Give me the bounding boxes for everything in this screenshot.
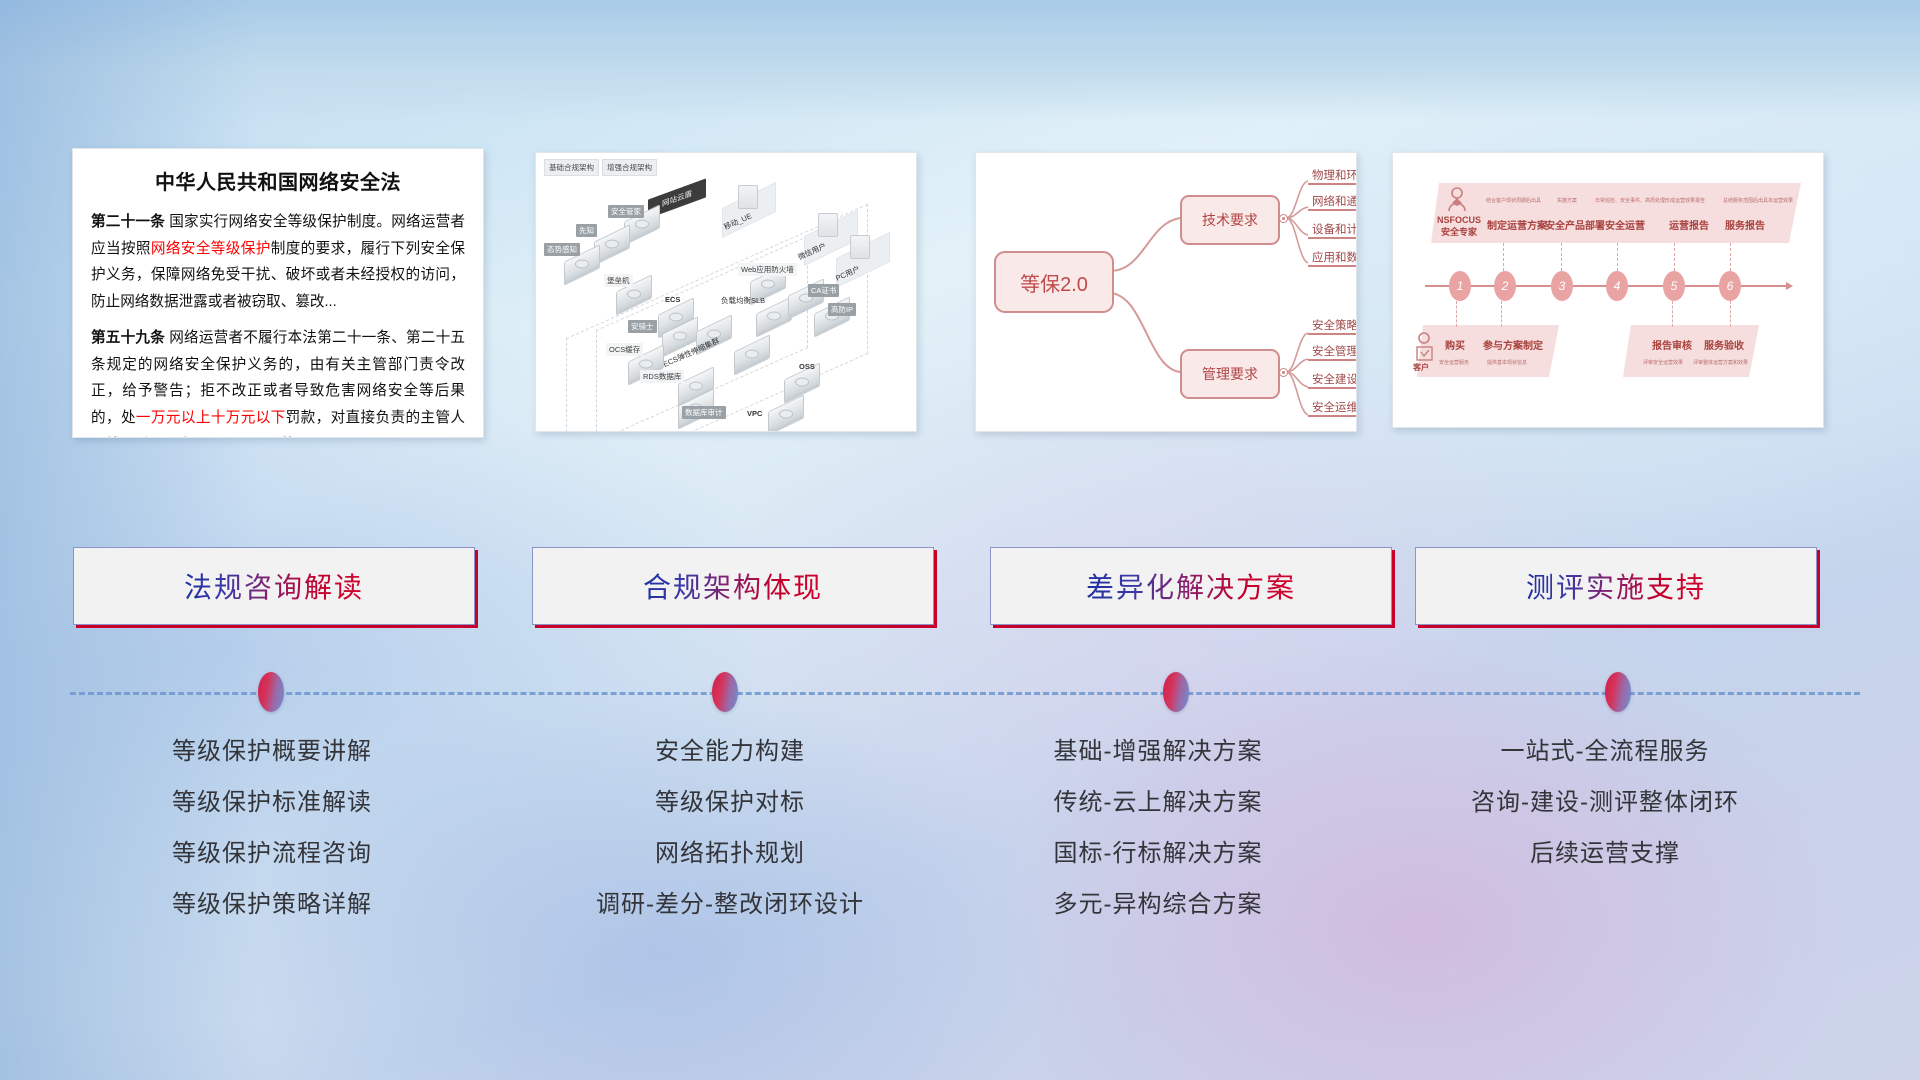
timeline-connector	[1456, 301, 1458, 327]
headline-box-solution[interactable]: 差异化解决方案	[990, 547, 1392, 625]
mindmap-branch-management: 管理要求	[1180, 349, 1280, 399]
timeline-node: 4	[1606, 271, 1628, 301]
mindmap-leaf-underline	[1308, 333, 1357, 335]
architecture-diagram: 移动_UE 微信用户 PC用户 网站云盾 安全管家 先知 态势感知 堡垒机 EC…	[536, 153, 916, 431]
list-item: 等级保护概要讲解	[62, 740, 482, 764]
architecture-tabs: 基础合规架构 增强合规架构	[544, 159, 657, 176]
label-security-butler: 安全管家	[608, 205, 644, 218]
law-article-21-highlight: 网络安全等级保护	[151, 241, 271, 257]
mindmap-leaf: 安全策略和管理制度	[1312, 317, 1357, 333]
mobile-device-icon	[738, 185, 758, 209]
vendor-role-label: NSFOCUS 安全专家	[1437, 215, 1481, 238]
bottom-step-subtitle: 安全运营服务	[1439, 359, 1469, 366]
list-item: 调研-差分-整改闭环设计	[520, 893, 940, 917]
headline-box-regulation[interactable]: 法规咨询解读	[73, 547, 475, 625]
mindmap-leaf-underline	[1308, 265, 1357, 267]
list-item: 等级保护流程咨询	[62, 842, 482, 866]
list-column-architecture: 安全能力构建 等级保护对标 网络拓扑规划 调研-差分-整改闭环设计	[520, 740, 940, 944]
label-oss: OSS	[796, 361, 818, 372]
timeline-marker-dot	[1163, 672, 1189, 712]
mindmap-leaf: 安全建设管理	[1312, 371, 1357, 387]
bottom-step-title: 购买	[1445, 337, 1465, 352]
mindmap-leaf: 设备和计算安全	[1312, 221, 1357, 237]
service-timeline-card: NSFOCUS 安全专家 客户 结合客户现状周期后出具 制定运营方案 实施方案 …	[1392, 152, 1824, 428]
list-item: 等级保护策略详解	[62, 893, 482, 917]
list-item: 多元-异构综合方案	[948, 893, 1368, 917]
law-article-59-highlight-2: 五千元以上五万元以下	[120, 437, 266, 438]
timeline-connector	[1561, 243, 1563, 271]
list-column-solution: 基础-增强解决方案 传统-云上解决方案 国标-行标解决方案 多元-异构综合方案	[948, 740, 1368, 944]
list-item: 等级保护标准解读	[62, 791, 482, 815]
top-step-title: 服务报告	[1725, 217, 1765, 232]
top-step-title: 安全运营	[1605, 217, 1645, 232]
label-slb: 负载均衡SLB	[718, 294, 768, 307]
mindmap-leaf: 应用和数据安全	[1312, 249, 1357, 265]
dengbao-mindmap-card: 等保2.0 技术要求 管理要求 物理和环境安全 网络和通信安全 设备和计算安全 …	[975, 152, 1357, 432]
list-column-assessment: 一站式-全流程服务 咨询-建设-测评整体闭环 后续运营支撑	[1395, 740, 1815, 893]
mindmap-leaf-underline	[1308, 237, 1357, 239]
mindmap-leaf-underline	[1308, 209, 1357, 211]
mindmap-leaf: 安全运维管理	[1312, 399, 1357, 415]
timeline-connector	[1730, 243, 1732, 271]
top-step-subtitle: 实施方案	[1557, 197, 1577, 204]
mindmap-branch-technical: 技术要求	[1180, 195, 1280, 245]
list-item: 国标-行标解决方案	[948, 842, 1368, 866]
headline-box-assessment[interactable]: 测评实施支持	[1415, 547, 1817, 625]
list-item: 咨询-建设-测评整体闭环	[1395, 791, 1815, 815]
timeline-marker-dot	[1605, 672, 1631, 712]
timeline-marker-dot	[712, 672, 738, 712]
mindmap-leaf-underline	[1308, 387, 1357, 389]
headline-label: 差异化解决方案	[1086, 566, 1296, 606]
law-article-59-text-c: 罚款。	[266, 437, 310, 438]
list-item: 后续运营支撑	[1395, 842, 1815, 866]
tab-enhanced-architecture[interactable]: 增强合规架构	[602, 159, 657, 176]
top-step-title: 制定运营方案	[1487, 217, 1547, 232]
service-timeline-diagram: NSFOCUS 安全专家 客户 结合客户现状周期后出具 制定运营方案 实施方案 …	[1393, 153, 1823, 427]
mindmap-leaf-underline	[1308, 183, 1357, 185]
headline-label: 测评实施支持	[1526, 566, 1706, 606]
background-top-glow	[0, 0, 1920, 120]
timeline-arrow-icon	[1786, 282, 1793, 290]
wechat-device-icon	[818, 213, 838, 237]
list-item: 基础-增强解决方案	[948, 740, 1368, 764]
law-article-59-label: 第五十九条	[91, 330, 165, 346]
headline-box-architecture[interactable]: 合规架构体现	[532, 547, 934, 625]
list-column-regulation: 等级保护概要讲解 等级保护标准解读 等级保护流程咨询 等级保护策略详解	[62, 740, 482, 944]
mindmap-leaf: 安全管理机构和人员	[1312, 343, 1357, 359]
list-item: 一站式-全流程服务	[1395, 740, 1815, 764]
top-step-subtitle: 结合客户现状周期后出具	[1486, 197, 1541, 204]
top-step-subtitle: 日常巡检、安全事件、高周处理	[1595, 197, 1665, 204]
label-vpc: VPC	[744, 408, 765, 419]
mindmap-root-node: 等保2.0	[994, 251, 1114, 313]
timeline-connector	[1503, 243, 1505, 271]
label-anti-ddos: 高防IP	[828, 303, 856, 316]
law-article-59-highlight-1: 一万元以上十万元以下	[136, 410, 286, 426]
timeline-node: 1	[1449, 271, 1471, 301]
law-article-59: 第五十九条 网络运营者不履行本法第二十一条、第二十五条规定的网络安全保护义务的，…	[91, 325, 465, 438]
timeline-node: 5	[1663, 271, 1685, 301]
timeline-connector	[1730, 301, 1732, 327]
timeline-connector	[1617, 243, 1619, 271]
headline-label: 合规架构体现	[643, 566, 823, 606]
top-step-title: 运营报告	[1669, 217, 1709, 232]
mindmap-collapse-dot-management[interactable]	[1279, 368, 1288, 377]
mindmap-leaf-underline	[1308, 359, 1357, 361]
cloud-architecture-card: 基础合规架构 增强合规架构 移动_UE 微信用户 PC用户 网站云盾 安全管家 …	[535, 152, 917, 432]
bottom-step-subtitle: 评审整体运营方案和效果	[1693, 359, 1748, 366]
list-item: 等级保护对标	[520, 791, 940, 815]
timeline-connector	[1501, 301, 1503, 327]
timeline-marker-dot	[258, 672, 284, 712]
law-article-21-label: 第二十一条	[91, 214, 165, 230]
top-step-subtitle: 总结服务范围后出具本运营效果	[1723, 197, 1793, 204]
mindmap-leaf: 网络和通信安全	[1312, 193, 1357, 209]
bottom-step-title: 服务验收	[1704, 337, 1744, 352]
top-step-title: 安全产品部署	[1545, 217, 1605, 232]
label-rds: RDS数据库	[640, 370, 684, 383]
bottom-step-title: 报告审核	[1652, 337, 1692, 352]
mindmap-leaf: 物理和环境安全	[1312, 167, 1357, 183]
label-bastion-host: 堡垒机	[604, 274, 633, 287]
list-item: 安全能力构建	[520, 740, 940, 764]
label-situation-awareness: 态势感知	[544, 243, 580, 256]
headline-label: 法规咨询解读	[184, 566, 364, 606]
label-xianzhi: 先知	[576, 224, 597, 237]
bottom-step-subtitle: 评审安全运营效果	[1643, 359, 1683, 366]
customer-role-label: 客户	[1413, 362, 1429, 373]
pc-device-icon	[850, 235, 870, 259]
law-card-title: 中华人民共和国网络安全法	[73, 166, 483, 195]
timeline-connector	[1672, 301, 1674, 327]
label-ecs: ECS	[662, 294, 683, 305]
law-card-body: 第二十一条 国家实行网络安全等级保护制度。网络运营者应当按照网络安全等级保护制度…	[73, 209, 483, 438]
section-timeline-axis	[70, 692, 1860, 695]
top-step-subtitle: 形成运营效果报告	[1665, 197, 1705, 204]
timeline-node: 2	[1494, 271, 1516, 301]
list-item: 传统-云上解决方案	[948, 791, 1368, 815]
label-ca-certificate: CA证书	[808, 284, 839, 297]
timeline-connector	[1674, 243, 1676, 271]
bottom-step-subtitle: 提供基本现状信息	[1487, 359, 1527, 366]
label-db-audit: 数据库审计	[682, 406, 726, 419]
timeline-node: 6	[1719, 271, 1741, 301]
top-card-row: 中华人民共和国网络安全法 第二十一条 国家实行网络安全等级保护制度。网络运营者应…	[0, 150, 1920, 450]
law-article-21: 第二十一条 国家实行网络安全等级保护制度。网络运营者应当按照网络安全等级保护制度…	[91, 209, 465, 316]
mindmap-collapse-dot-technical[interactable]	[1279, 214, 1288, 223]
tab-basic-architecture[interactable]: 基础合规架构	[544, 159, 599, 176]
law-text-card: 中华人民共和国网络安全法 第二十一条 国家实行网络安全等级保护制度。网络运营者应…	[72, 148, 484, 438]
label-sas-agent: 安骑士	[628, 320, 657, 333]
label-ocs-cache: OCS缓存	[606, 343, 643, 356]
mindmap-leaf-underline	[1308, 415, 1357, 417]
label-waf: Web应用防火墙	[738, 263, 797, 276]
mindmap-diagram: 等保2.0 技术要求 管理要求 物理和环境安全 网络和通信安全 设备和计算安全 …	[976, 153, 1356, 431]
bottom-step-title: 参与方案制定	[1483, 337, 1543, 352]
timeline-node: 3	[1551, 271, 1573, 301]
list-item: 网络拓扑规划	[520, 842, 940, 866]
